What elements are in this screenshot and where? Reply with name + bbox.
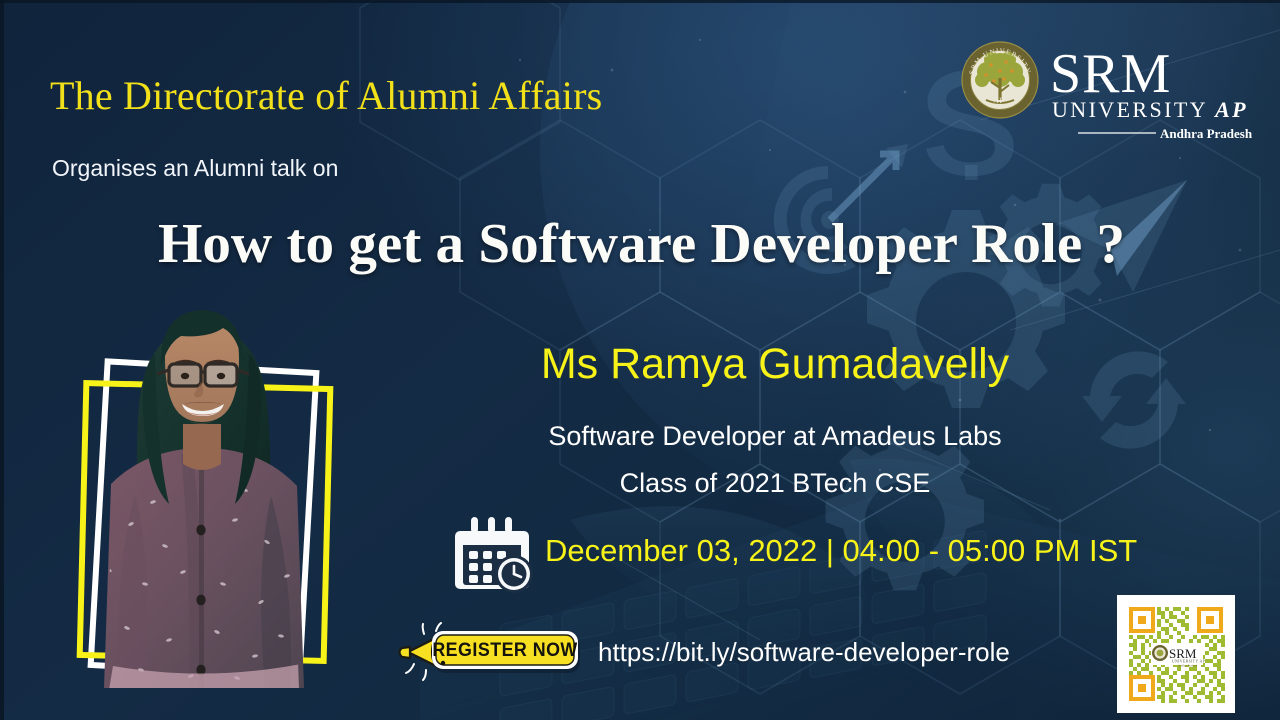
organises-line: Organises an Alumni talk on: [52, 155, 338, 182]
svg-text:AP: AP: [993, 95, 1005, 105]
department-title: The Directorate of Alumni Affairs: [50, 72, 602, 119]
logo-srm-text: SRM: [1050, 43, 1171, 105]
srm-university-logo: SRM UNIVERSITY AP SRM UNIVERSITY AP Andh…: [960, 38, 1256, 162]
speaker-photo-block: [40, 280, 380, 700]
svg-text:Andhra Pradesh: Andhra Pradesh: [1178, 664, 1198, 668]
logo-andhra-pradesh-text: Andhra Pradesh: [1160, 126, 1253, 141]
speaker-batch: Class of 2021 BTech CSE: [430, 468, 1120, 499]
top-edge-border: [0, 0, 1280, 3]
register-now-label: REGISTER NOW: [432, 638, 578, 660]
srm-seal-icon: SRM UNIVERSITY AP: [962, 42, 1038, 118]
calendar-clock-icon: [455, 515, 537, 595]
logo-university-text: UNIVERSITY AP: [1052, 97, 1248, 122]
speaker-role: Software Developer at Amadeus Labs: [430, 421, 1120, 452]
registration-url[interactable]: https://bit.ly/software-developer-role: [598, 637, 1010, 668]
speaker-portrait: [95, 284, 310, 688]
speaker-name: Ms Ramya Gumadavelly: [430, 340, 1120, 389]
poster-canvas: The Directorate of Alumni Affairs Organi…: [0, 0, 1280, 720]
register-now-button[interactable]: REGISTER NOW: [396, 622, 582, 684]
qr-center-logo: SRM UNIVERSITY AP Andhra Pradesh: [1151, 643, 1205, 668]
qr-code[interactable]: SRM UNIVERSITY AP Andhra Pradesh: [1117, 595, 1235, 713]
event-datetime: December 03, 2022 | 04:00 - 05:00 PM IST: [545, 533, 1137, 569]
seal-bottom-text: AP: [993, 95, 1005, 105]
left-edge-border: [0, 0, 4, 720]
talk-title: How to get a Software Developer Role ?: [22, 212, 1261, 276]
